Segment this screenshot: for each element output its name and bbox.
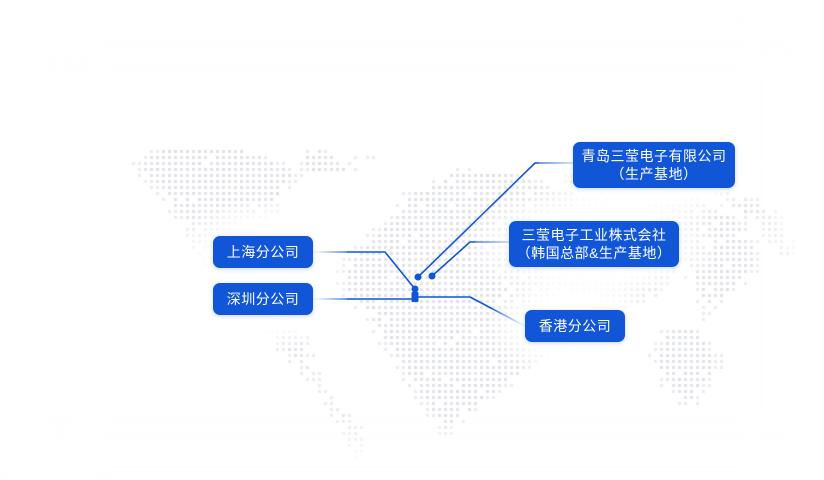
label-hongkong-line1: 香港分公司 (539, 317, 612, 335)
world-map-background (0, 0, 824, 480)
label-shenzhen-line1: 深圳分公司 (227, 290, 300, 308)
label-shanghai-line1: 上海分公司 (227, 243, 300, 261)
dotted-world-map-canvas (0, 0, 824, 480)
label-hongkong[interactable]: 香港分公司 (525, 310, 625, 342)
marker-qingdao[interactable] (415, 274, 422, 281)
label-qingdao[interactable]: 青岛三莹电子有限公司（生产基地） (573, 142, 735, 188)
world-map-infographic: 青岛三莹电子有限公司（生产基地）三莹电子工业株式会社（韩国总部&生产基地）上海分… (0, 0, 824, 480)
label-shenzhen[interactable]: 深圳分公司 (213, 283, 313, 315)
label-qingdao-line2: （生产基地） (611, 165, 698, 183)
marker-shenzhen[interactable] (412, 292, 419, 302)
label-korea-hq[interactable]: 三莹电子工业株式会社（韩国总部&生产基地） (509, 221, 679, 267)
label-korea-hq-line1: 三莹电子工业株式会社 (522, 226, 667, 244)
marker-korea[interactable] (429, 273, 436, 280)
label-shanghai[interactable]: 上海分公司 (213, 236, 313, 268)
label-korea-hq-line2: （韩国总部&生产基地） (517, 244, 672, 262)
label-qingdao-line1: 青岛三莹电子有限公司 (582, 147, 727, 165)
